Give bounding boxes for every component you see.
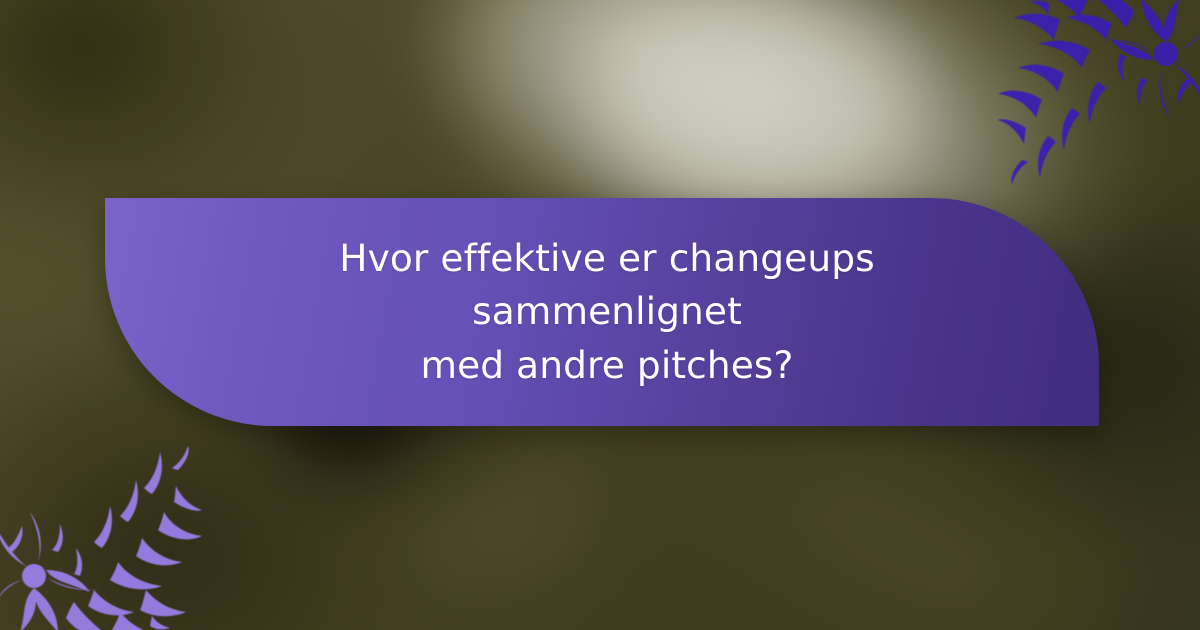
social-card: Hvor effektive er changeups sammenlignet…: [0, 0, 1200, 630]
page-title: Hvor effektive er changeups sammenlignet…: [235, 232, 979, 392]
headline-banner: Hvor effektive er changeups sammenlignet…: [105, 198, 1099, 426]
title-line-2: med andre pitches?: [420, 343, 793, 387]
title-line-1: Hvor effektive er changeups sammenlignet: [339, 236, 874, 333]
